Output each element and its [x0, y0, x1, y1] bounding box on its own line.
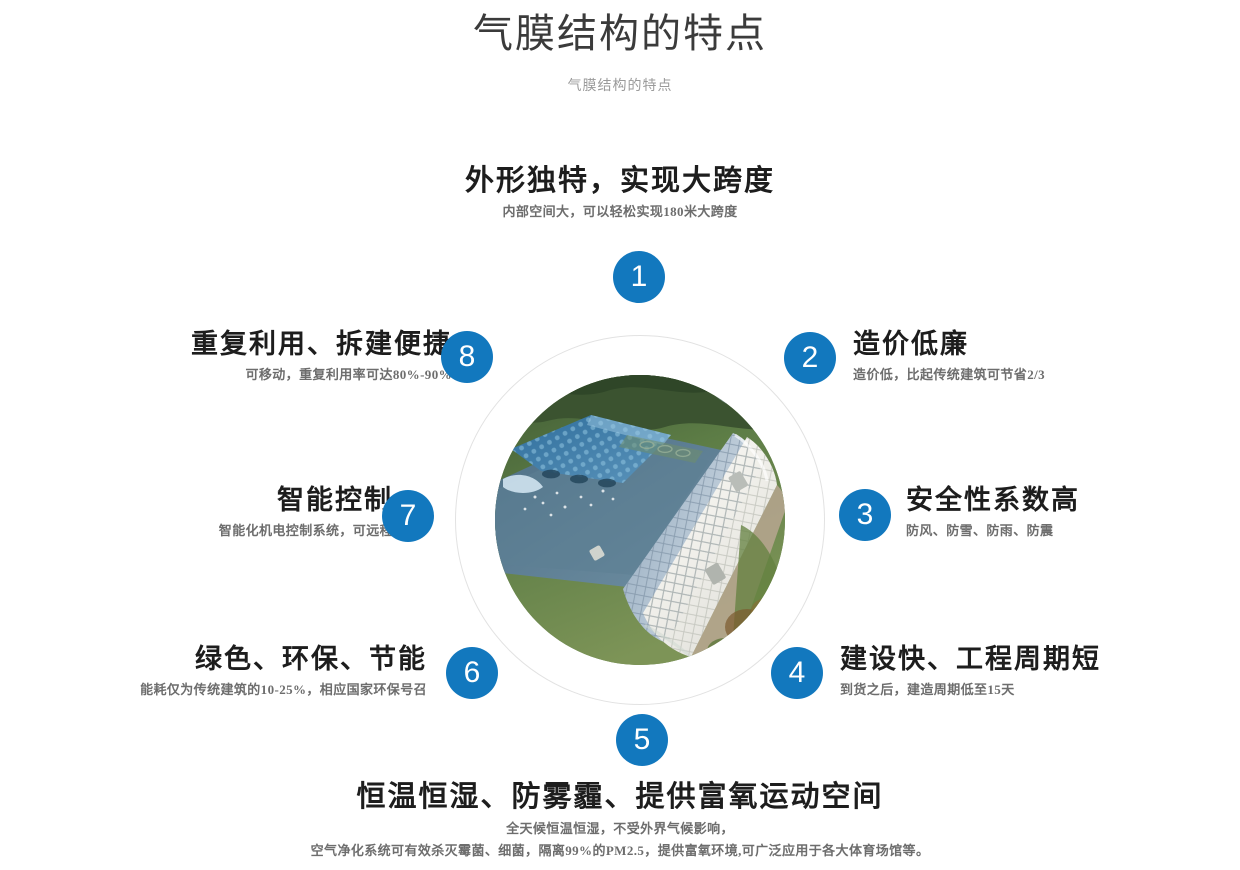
- feature-8-title: 重复利用、拆建便捷: [191, 326, 452, 362]
- badge-3[interactable]: 3: [839, 489, 891, 541]
- feature-5-title: 恒温恒湿、防雾霾、提供富氧运动空间: [0, 779, 1240, 815]
- feature-6: 绿色、环保、节能 能耗仅为传统建筑的10-25%，相应国家环保号召: [140, 641, 427, 700]
- feature-4: 建设快、工程周期短 到货之后，建造周期低至15天: [840, 641, 1101, 700]
- feature-2-desc: 造价低，比起传统建筑可节省2/3: [853, 365, 1045, 385]
- center-ring: [455, 335, 825, 705]
- feature-2: 造价低廉 造价低，比起传统建筑可节省2/3: [853, 326, 1045, 385]
- badge-5[interactable]: 5: [616, 714, 668, 766]
- badge-7[interactable]: 7: [382, 490, 434, 542]
- feature-3-title: 安全性系数高: [906, 482, 1080, 518]
- badge-6[interactable]: 6: [446, 647, 498, 699]
- badge-4[interactable]: 4: [771, 647, 823, 699]
- feature-1-desc: 内部空间大，可以轻松实现180米大跨度: [0, 202, 1240, 222]
- badge-8[interactable]: 8: [441, 331, 493, 383]
- feature-5: 恒温恒湿、防雾霾、提供富氧运动空间 全天候恒温恒湿，不受外界气候影响， 空气净化…: [0, 779, 1240, 862]
- feature-6-desc: 能耗仅为传统建筑的10-25%，相应国家环保号召: [140, 680, 427, 700]
- feature-5-desc-line2: 空气净化系统可有效杀灭霉菌、细菌，隔离99%的PM2.5，提供富氧环境,可广泛应…: [0, 840, 1240, 862]
- feature-7-desc: 智能化机电控制系统，可远程: [219, 521, 393, 541]
- feature-2-title: 造价低廉: [853, 326, 1045, 362]
- badge-1[interactable]: 1: [613, 251, 665, 303]
- badge-2[interactable]: 2: [784, 332, 836, 384]
- feature-3: 安全性系数高 防风、防雪、防雨、防震: [906, 482, 1080, 541]
- infographic-page: 气膜结构的特点 气膜结构的特点: [0, 0, 1240, 870]
- feature-6-title: 绿色、环保、节能: [140, 641, 427, 677]
- feature-1: 外形独特，实现大跨度 内部空间大，可以轻松实现180米大跨度: [0, 163, 1240, 222]
- feature-8: 重复利用、拆建便捷 可移动，重复利用率可达80%-90%: [191, 326, 452, 385]
- feature-4-desc: 到货之后，建造周期低至15天: [840, 680, 1101, 700]
- feature-4-title: 建设快、工程周期短: [840, 641, 1101, 677]
- page-title: 气膜结构的特点: [0, 6, 1240, 62]
- feature-3-desc: 防风、防雪、防雨、防震: [906, 521, 1080, 541]
- feature-7: 智能控制 智能化机电控制系统，可远程: [219, 482, 393, 541]
- air-dome-photo: [495, 375, 785, 665]
- air-dome-illustration: [495, 375, 785, 665]
- feature-5-desc: 全天候恒温恒湿，不受外界气候影响，: [0, 818, 1240, 840]
- feature-7-title: 智能控制: [219, 482, 393, 518]
- feature-8-desc: 可移动，重复利用率可达80%-90%: [191, 365, 452, 385]
- feature-1-title: 外形独特，实现大跨度: [0, 163, 1240, 199]
- page-subtitle: 气膜结构的特点: [0, 74, 1240, 96]
